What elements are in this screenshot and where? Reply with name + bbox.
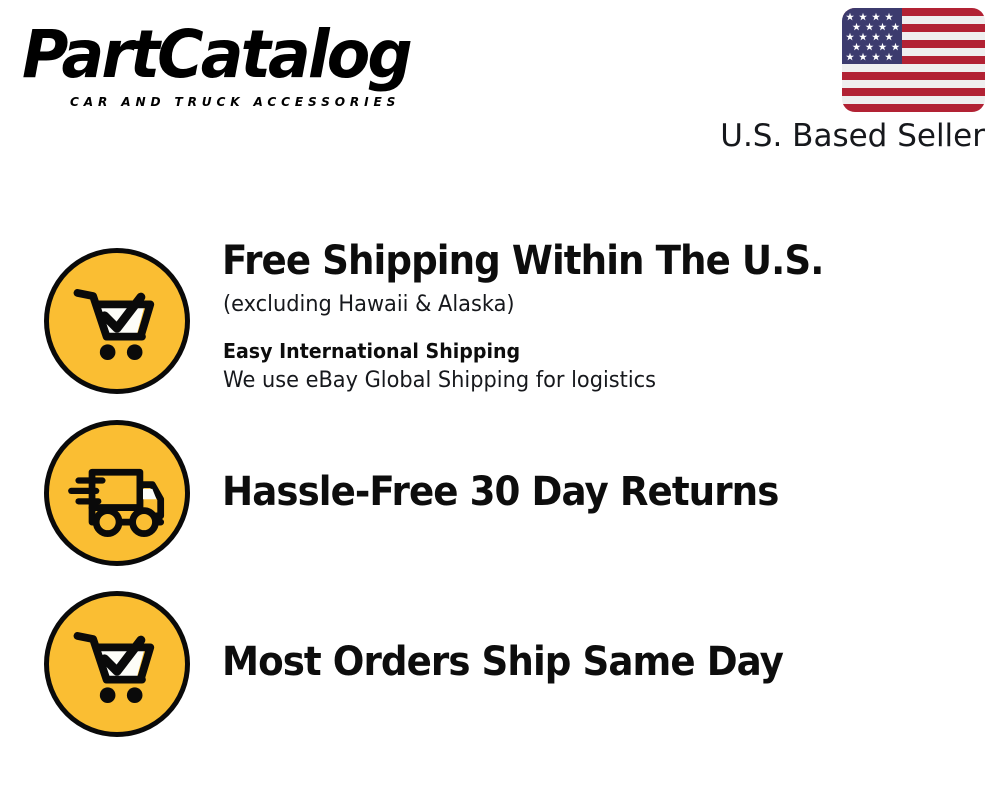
us-based-seller-label: U.S. Based Seller <box>500 118 985 154</box>
brand-logo[interactable]: PartCatalog CAR AND TRUCK ACCESSORIES <box>22 22 492 117</box>
feature-row-returns: Hassle-Free 30 Day Returns <box>0 420 1000 570</box>
feature-headline: Most Orders Ship Same Day <box>222 639 783 685</box>
shopping-cart-check-icon <box>44 591 190 737</box>
feature-row-same-day-ship: Most Orders Ship Same Day <box>0 591 1000 741</box>
feature-subline-exclusions: (excluding Hawaii & Alaska) <box>223 290 515 320</box>
feature-headline: Hassle-Free 30 Day Returns <box>222 469 778 515</box>
brand-wordmark: PartCatalog <box>22 16 410 93</box>
feature-headline: Free Shipping Within The U.S. <box>222 238 823 284</box>
header-band: PartCatalog CAR AND TRUCK ACCESSORIES <box>0 0 1000 170</box>
brand-tagline: CAR AND TRUCK ACCESSORIES <box>70 94 400 109</box>
feature-row-free-shipping: Free Shipping Within The U.S. (excluding… <box>0 248 1000 398</box>
feature-subline-international-detail: We use eBay Global Shipping for logistic… <box>223 366 656 396</box>
feature-subline-international-title: Easy International Shipping <box>223 336 520 366</box>
delivery-truck-icon <box>44 420 190 566</box>
us-flag-icon <box>842 8 985 112</box>
shopping-cart-check-icon <box>44 248 190 394</box>
